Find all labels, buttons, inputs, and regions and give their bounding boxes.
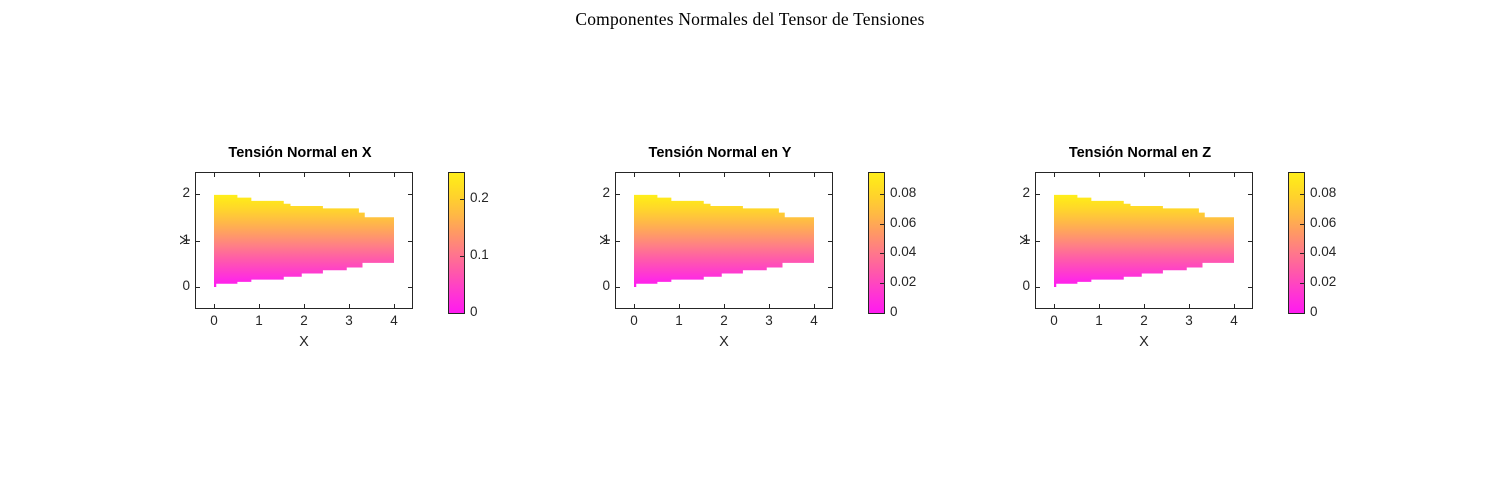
y-tick-mark-right	[828, 194, 832, 195]
stress-field	[196, 173, 412, 308]
x-tick-mark-top	[1189, 173, 1190, 177]
x-tick-mark	[1189, 304, 1190, 308]
y-tick-label: 2	[1010, 185, 1030, 200]
colorbar-tick-mark	[880, 253, 884, 254]
subplot-title: Tensión Normal en X	[175, 145, 425, 161]
colorbar-tick-label: 0.06	[890, 215, 916, 230]
x-tick-mark	[634, 304, 635, 308]
x-tick-mark-top	[214, 173, 215, 177]
y-tick-label: 0	[170, 278, 190, 293]
x-tick-mark-top	[1144, 173, 1145, 177]
colorbar-tick-label: 0	[890, 304, 898, 319]
y-tick-mark-right	[408, 241, 412, 242]
x-tick-mark-top	[349, 173, 350, 177]
x-tick-label: 2	[711, 313, 737, 328]
colorbar-tick-label: 0	[1310, 304, 1318, 319]
x-tick-mark	[1099, 304, 1100, 308]
y-axis-label: Y	[1018, 210, 1034, 270]
y-tick-mark	[196, 241, 200, 242]
colorbar-tick-label: 0.2	[470, 190, 489, 205]
stress-field	[1036, 173, 1252, 308]
x-tick-label: 3	[336, 313, 362, 328]
plot-area	[615, 172, 833, 309]
colorbar-tick-mark	[880, 283, 884, 284]
x-tick-mark	[679, 304, 680, 308]
colorbar-tick-label: 0.1	[470, 247, 489, 262]
colorbar-tick-mark	[1300, 283, 1304, 284]
x-tick-mark-top	[679, 173, 680, 177]
colorbar-tick-mark	[1300, 224, 1304, 225]
x-tick-mark-top	[259, 173, 260, 177]
x-tick-mark-top	[769, 173, 770, 177]
colorbar-tick-label: 0.04	[890, 244, 916, 259]
x-axis-label: X	[1035, 334, 1253, 350]
x-tick-label: 1	[246, 313, 272, 328]
x-tick-mark-top	[304, 173, 305, 177]
y-tick-mark-right	[1248, 287, 1252, 288]
y-tick-mark	[196, 194, 200, 195]
x-tick-mark	[769, 304, 770, 308]
x-tick-mark-top	[394, 173, 395, 177]
x-tick-label: 3	[756, 313, 782, 328]
y-tick-mark	[616, 241, 620, 242]
x-tick-label: 3	[1176, 313, 1202, 328]
y-tick-mark	[1036, 241, 1040, 242]
x-tick-mark	[259, 304, 260, 308]
subplot-title: Tensión Normal en Z	[1015, 145, 1265, 161]
figure-canvas: Componentes Normales del Tensor de Tensi…	[0, 0, 1500, 500]
x-tick-mark-top	[1099, 173, 1100, 177]
x-tick-mark-top	[1234, 173, 1235, 177]
x-tick-label: 2	[291, 313, 317, 328]
colorbar	[448, 172, 465, 314]
x-tick-label: 4	[381, 313, 407, 328]
colorbar-gradient	[449, 173, 464, 313]
subplot-2: Tensión Normal en Y01234012XY00.020.040.…	[590, 0, 1010, 500]
x-tick-label: 1	[666, 313, 692, 328]
x-tick-label: 1	[1086, 313, 1112, 328]
x-axis-label: X	[615, 334, 833, 350]
colorbar	[868, 172, 885, 314]
y-tick-label: 2	[590, 185, 610, 200]
plot-area	[195, 172, 413, 309]
colorbar-tick-label: 0.08	[890, 185, 916, 200]
x-tick-mark	[1144, 304, 1145, 308]
subplot-1: Tensión Normal en X01234012XY00.10.2	[170, 0, 590, 500]
x-tick-mark	[1234, 304, 1235, 308]
x-tick-mark	[394, 304, 395, 308]
subplot-3: Tensión Normal en Z01234012XY00.020.040.…	[1010, 0, 1430, 500]
colorbar-tick-mark	[1300, 253, 1304, 254]
colorbar-tick-mark	[880, 194, 884, 195]
x-tick-mark	[814, 304, 815, 308]
y-tick-mark-right	[828, 241, 832, 242]
stress-field	[616, 173, 832, 308]
x-tick-label: 0	[1041, 313, 1067, 328]
y-tick-label: 2	[170, 185, 190, 200]
y-axis-label: Y	[598, 210, 614, 270]
colorbar	[1288, 172, 1305, 314]
colorbar-tick-label: 0.02	[1310, 274, 1336, 289]
x-tick-mark-top	[814, 173, 815, 177]
x-tick-mark-top	[1054, 173, 1055, 177]
x-tick-mark	[724, 304, 725, 308]
y-axis-label: Y	[178, 210, 194, 270]
y-tick-mark-right	[828, 287, 832, 288]
y-tick-mark-right	[408, 194, 412, 195]
x-tick-label: 0	[201, 313, 227, 328]
colorbar-tick-label: 0.08	[1310, 185, 1336, 200]
x-tick-label: 2	[1131, 313, 1157, 328]
y-tick-mark-right	[408, 287, 412, 288]
y-tick-label: 0	[590, 278, 610, 293]
x-tick-mark	[304, 304, 305, 308]
x-tick-mark	[349, 304, 350, 308]
colorbar-tick-mark	[460, 199, 464, 200]
x-tick-mark-top	[724, 173, 725, 177]
colorbar-tick-mark	[880, 224, 884, 225]
x-tick-mark-top	[634, 173, 635, 177]
colorbar-tick-mark	[1300, 194, 1304, 195]
colorbar-tick-label: 0.04	[1310, 244, 1336, 259]
y-tick-mark	[616, 194, 620, 195]
subplot-title: Tensión Normal en Y	[595, 145, 845, 161]
y-tick-mark	[1036, 287, 1040, 288]
x-axis-label: X	[195, 334, 413, 350]
y-tick-mark-right	[1248, 241, 1252, 242]
x-tick-label: 4	[1221, 313, 1247, 328]
y-tick-mark	[196, 287, 200, 288]
y-tick-mark	[1036, 194, 1040, 195]
x-tick-mark	[1054, 304, 1055, 308]
colorbar-tick-label: 0	[470, 304, 478, 319]
x-tick-label: 0	[621, 313, 647, 328]
y-tick-label: 0	[1010, 278, 1030, 293]
x-tick-mark	[214, 304, 215, 308]
y-tick-mark-right	[1248, 194, 1252, 195]
x-tick-label: 4	[801, 313, 827, 328]
colorbar-tick-mark	[460, 256, 464, 257]
plot-area	[1035, 172, 1253, 309]
colorbar-tick-label: 0.06	[1310, 215, 1336, 230]
y-tick-mark	[616, 287, 620, 288]
colorbar-tick-label: 0.02	[890, 274, 916, 289]
